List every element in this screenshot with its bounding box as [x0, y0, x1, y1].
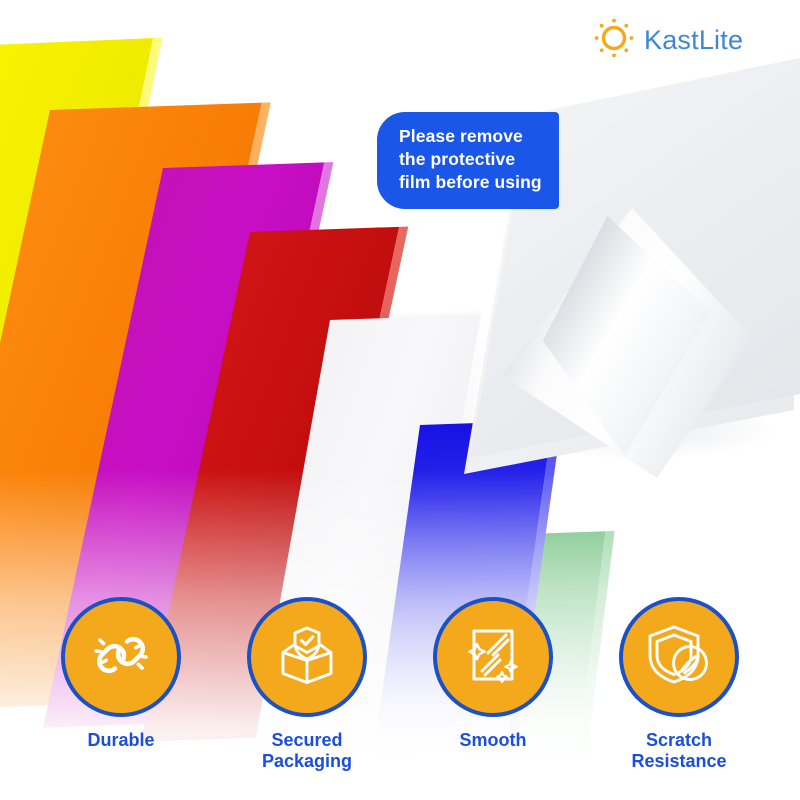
feature-label: Secured Packaging	[262, 730, 352, 772]
feature-badge-circle	[619, 597, 739, 717]
protective-film-callout: Please remove the protective film before…	[377, 112, 559, 209]
shield-box-icon	[271, 619, 343, 696]
feature-badge-circle	[247, 597, 367, 717]
chain-link-icon	[86, 620, 156, 695]
product-image: KastLite Please remove the protective fi…	[0, 0, 800, 800]
feature-durable: Durable	[59, 597, 184, 772]
feature-badge-row: Durable Secured Packaging	[0, 597, 800, 772]
feature-secured-packaging: Secured Packaging	[245, 597, 370, 772]
feature-badge-circle	[61, 597, 181, 717]
sun-icon	[592, 16, 636, 65]
feature-label: Durable	[87, 730, 154, 751]
brand-logo: KastLite	[592, 16, 743, 65]
brand-name: KastLite	[644, 25, 743, 56]
feature-badge-circle	[433, 597, 553, 717]
feature-scratch-resistance: Scratch Resistance	[617, 597, 742, 772]
shield-blade-icon	[643, 619, 715, 696]
feature-smooth: Smooth	[431, 597, 556, 772]
feature-label: Scratch Resistance	[631, 730, 726, 772]
feature-label: Smooth	[460, 730, 527, 751]
sparkle-panel-icon	[458, 620, 528, 695]
